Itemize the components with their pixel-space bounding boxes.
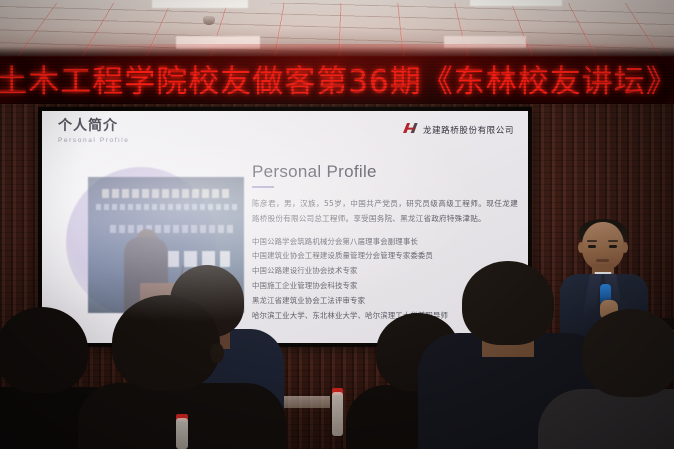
slide-heading: Personal Profile <box>252 163 518 180</box>
speaker-eyebrow <box>608 240 618 242</box>
inset-photo-subline <box>96 204 238 210</box>
speaker-eye <box>609 245 617 248</box>
slide-title-en: Personal Profile <box>58 137 129 144</box>
ceiling-light-panel <box>152 0 248 8</box>
speaker-mouth <box>596 259 609 262</box>
audience-member <box>548 329 674 449</box>
audience-head <box>462 261 554 345</box>
heading-underline <box>252 186 274 188</box>
inset-photo-name <box>166 251 230 267</box>
ceiling <box>0 0 674 60</box>
list-item: 中国公路学会筑路机械分会第八届理事会副理事长 <box>252 235 518 250</box>
led-banner-text: 土木工程学院校友做客第36期《东林校友讲坛》 <box>0 67 674 98</box>
audience-ear <box>210 343 224 363</box>
speaker-ear <box>578 242 584 253</box>
ceiling-light-panel <box>470 0 562 6</box>
company-logo: 龙建路桥股份有限公司 <box>403 123 514 136</box>
speaker-eye <box>588 245 596 248</box>
audience-head <box>582 309 674 397</box>
slide-paragraph: 陈彦君，男，汉族，55岁，中国共产党员，研究员级高级工程师。现任龙建路桥股份有限… <box>252 197 518 227</box>
speaker-ear <box>622 242 628 253</box>
list-item: 中国建筑业协会工程建设质量管理分会管理专家委委员 <box>252 249 518 264</box>
smoke-detector-icon <box>203 16 215 25</box>
company-name: 龙建路桥股份有限公司 <box>423 124 514 136</box>
inset-photo-company-line <box>110 225 234 233</box>
water-bottle <box>176 418 188 449</box>
slide-title-cn: 个人简介 <box>58 119 129 134</box>
audience-shoulders <box>538 389 674 449</box>
inset-photo-headline <box>102 189 230 198</box>
speaker-eyebrow <box>587 240 597 242</box>
company-mark-icon <box>403 123 418 136</box>
led-banner: 土木工程学院校友做客第36期《东林校友讲坛》 <box>0 56 674 108</box>
audience-head <box>0 307 88 393</box>
slide-header: 个人简介 Personal Profile <box>58 119 129 144</box>
conference-photo-scene: 土木工程学院校友做客第36期《东林校友讲坛》 个人简介 Personal Pro… <box>0 0 674 449</box>
water-bottle <box>332 392 343 436</box>
audience-head <box>112 295 220 391</box>
